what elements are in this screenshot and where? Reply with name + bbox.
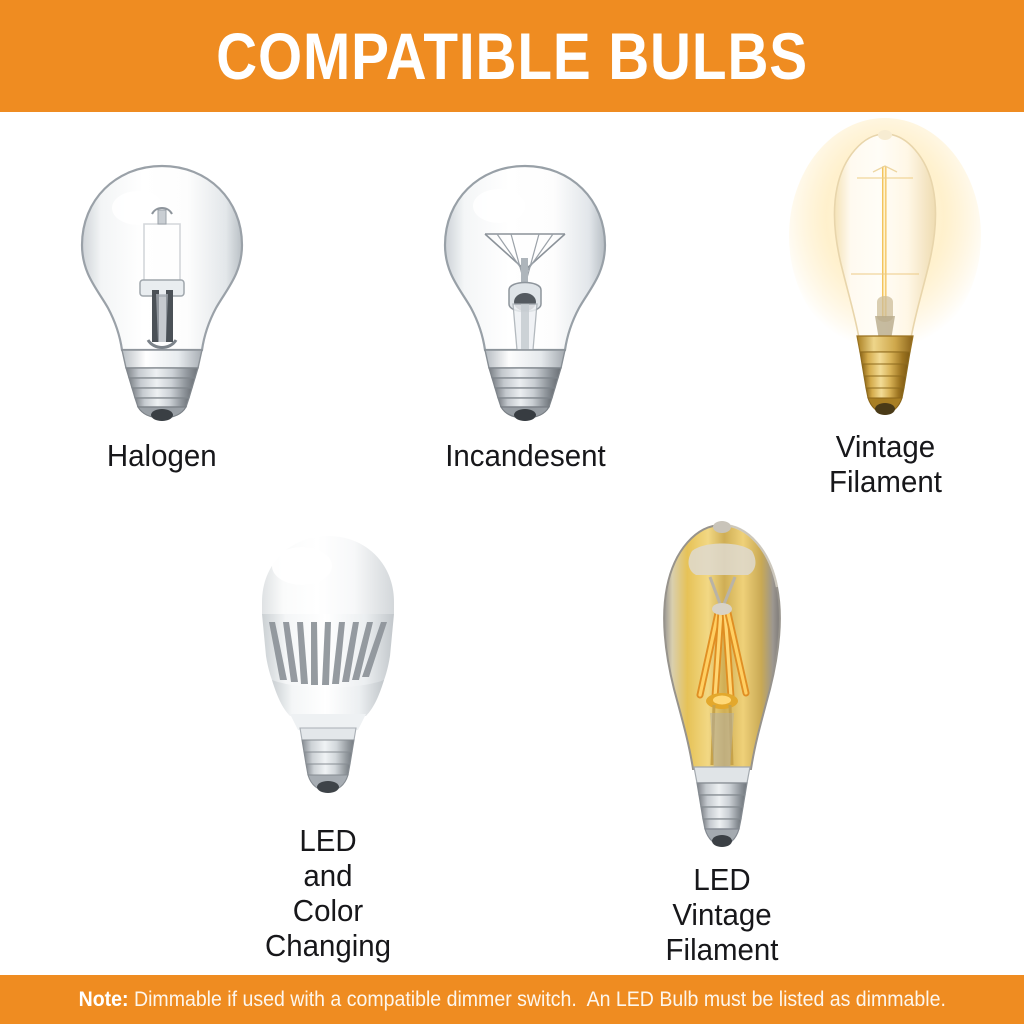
halogen-bulb-icon — [74, 162, 250, 422]
bulb-caption-incandescent: Incandesent — [445, 438, 605, 473]
bulb-card-halogen: Halogen — [62, 162, 262, 473]
footer-note-text: Dimmable if used with a compatible dimme… — [128, 988, 945, 1011]
bulb-gallery: Halogen — [0, 112, 1024, 975]
bulb-card-incandescent: Incandesent — [425, 162, 625, 473]
page-title: COMPATIBLE BULBS — [216, 23, 808, 89]
incandescent-bulb-icon — [437, 162, 613, 422]
bulb-card-vintage-filament: Vintage Filament — [790, 126, 980, 499]
vintage-filament-bulb-icon — [795, 126, 975, 421]
bulb-card-led: LED and Color Changing — [228, 530, 428, 963]
led-bulb-icon — [238, 530, 418, 805]
led-vintage-filament-bulb-icon — [622, 517, 822, 852]
bulb-caption-led-vintage-filament: LED Vintage Filament — [618, 862, 827, 967]
footer-note-bar: Note: Dimmable if used with a compatible… — [0, 975, 1024, 1024]
footer-note: Note: Dimmable if used with a compatible… — [78, 989, 945, 1010]
header-bar: COMPATIBLE BULBS — [0, 0, 1024, 112]
bulb-caption-halogen: Halogen — [107, 438, 217, 473]
footer-note-label: Note: — [78, 988, 128, 1011]
bulb-card-led-vintage-filament: LED Vintage Filament — [612, 517, 832, 967]
bulb-caption-led: LED and Color Changing — [233, 823, 423, 963]
bulb-caption-vintage-filament: Vintage Filament — [829, 429, 942, 499]
